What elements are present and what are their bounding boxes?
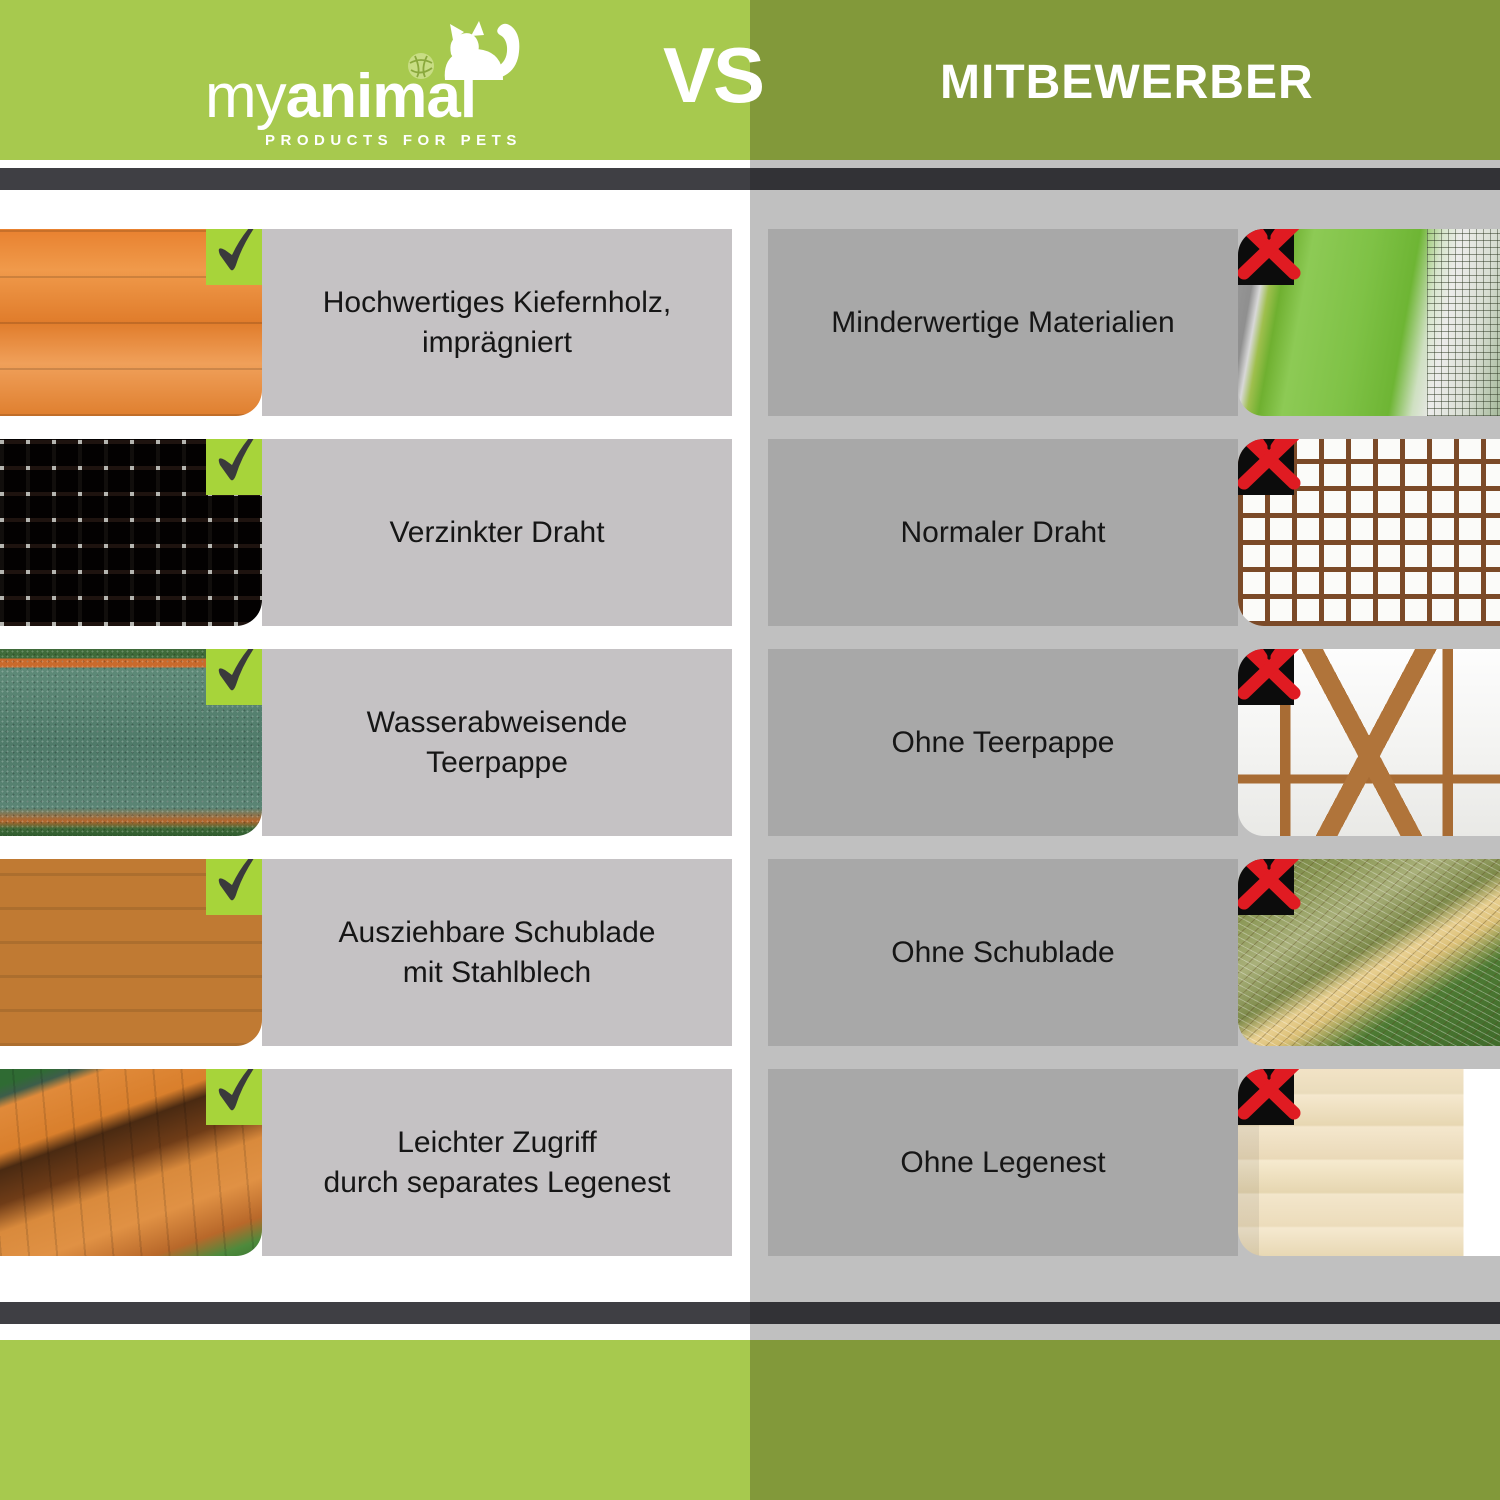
brand-feature-image [0,1069,262,1256]
check-mark-icon [206,859,262,915]
comparison-row: Verzinkter Draht Normaler Draht [0,439,1500,626]
header: myanimal PRODUCTS FOR PETS VS MITBEWERBE… [0,0,1500,160]
competitor-feature-panel: Ohne Schublade [768,859,1238,1046]
brand-logo: myanimal PRODUCTS FOR PETS [205,8,565,153]
top-separator-left [0,168,750,190]
row-left-brand: Verzinkter Draht [0,439,750,626]
row-right-competitor: Minderwertige Materialien [750,229,1500,416]
red-x-icon [1238,859,1294,915]
footer-right-band [750,1340,1500,1500]
check-mark-icon [206,439,262,495]
competitor-feature-image [1238,439,1500,626]
competitor-title: MITBEWERBER [940,58,1314,108]
brand-feature-panel: Verzinkter Draht [262,439,732,626]
competitor-feature-image [1238,229,1500,416]
competitor-feature-panel: Minderwertige Materialien [768,229,1238,416]
competitor-feature-text: Ohne Legenest [886,1143,1119,1183]
brand-feature-text: Verzinkter Draht [373,513,620,553]
red-x-icon [1238,229,1294,285]
brand-feature-panel: Hochwertiges Kiefernholz, imprägniert [262,229,732,416]
top-separator-right [750,168,1500,190]
row-right-competitor: Ohne Teerpappe [750,649,1500,836]
check-mark-icon [206,649,262,705]
brand-feature-image [0,439,262,626]
brand-feature-panel: Wasserabweisende Teerpappe [262,649,732,836]
footer-left-band [0,1340,750,1500]
comparison-row: Hochwertiges Kiefernholz, imprägniert Mi… [0,229,1500,416]
row-left-brand: Wasserabweisende Teerpappe [0,649,750,836]
brand-feature-text: Hochwertiges Kiefernholz, imprägniert [307,283,688,363]
comparison-infographic: myanimal PRODUCTS FOR PETS VS MITBEWERBE… [0,0,1500,1500]
competitor-feature-image [1238,1069,1500,1256]
competitor-feature-image [1238,649,1500,836]
check-mark-icon [206,229,262,285]
brand-feature-image [0,859,262,1046]
row-right-competitor: Ohne Legenest [750,1069,1500,1256]
row-left-brand: Hochwertiges Kiefernholz, imprägniert [0,229,750,416]
check-mark-icon [206,1069,262,1125]
red-x-icon [1238,1069,1294,1125]
brand-feature-text: Wasserabweisende Teerpappe [351,703,644,783]
brand-feature-panel: Ausziehbare Schublade mit Stahlblech [262,859,732,1046]
competitor-feature-image [1238,859,1500,1046]
comparison-row: Ausziehbare Schublade mit Stahlblech Ohn… [0,859,1500,1046]
competitor-feature-panel: Ohne Legenest [768,1069,1238,1256]
brand-feature-text: Ausziehbare Schublade mit Stahlblech [323,913,672,993]
competitor-feature-panel: Normaler Draht [768,439,1238,626]
brand-tagline: PRODUCTS FOR PETS [265,132,575,149]
brand-feature-image [0,649,262,836]
red-x-icon [1238,439,1294,495]
brand-feature-image [0,229,262,416]
brand-wordmark: myanimal [205,66,565,128]
row-left-brand: Ausziehbare Schublade mit Stahlblech [0,859,750,1046]
competitor-feature-text: Ohne Teerpappe [878,723,1129,763]
bottom-separator-left [0,1302,750,1324]
comparison-rows: Hochwertiges Kiefernholz, imprägniert Mi… [0,229,1500,1289]
competitor-feature-text: Minderwertige Materialien [817,303,1188,343]
brand-word-animal: animal [286,62,476,131]
competitor-feature-panel: Ohne Teerpappe [768,649,1238,836]
row-right-competitor: Normaler Draht [750,439,1500,626]
red-x-icon [1238,649,1294,705]
competitor-feature-text: Ohne Schublade [877,933,1129,973]
vs-label: VS [663,36,763,114]
comparison-row: Leichter Zugriff durch separates Legenes… [0,1069,1500,1256]
row-right-competitor: Ohne Schublade [750,859,1500,1046]
row-left-brand: Leichter Zugriff durch separates Legenes… [0,1069,750,1256]
brand-feature-text: Leichter Zugriff durch separates Legenes… [308,1123,687,1203]
brand-feature-panel: Leichter Zugriff durch separates Legenes… [262,1069,732,1256]
brand-word-my: my [205,62,286,131]
comparison-row: Wasserabweisende Teerpappe Ohne Teerpapp… [0,649,1500,836]
competitor-feature-text: Normaler Draht [886,513,1119,553]
bottom-separator-right [750,1302,1500,1324]
